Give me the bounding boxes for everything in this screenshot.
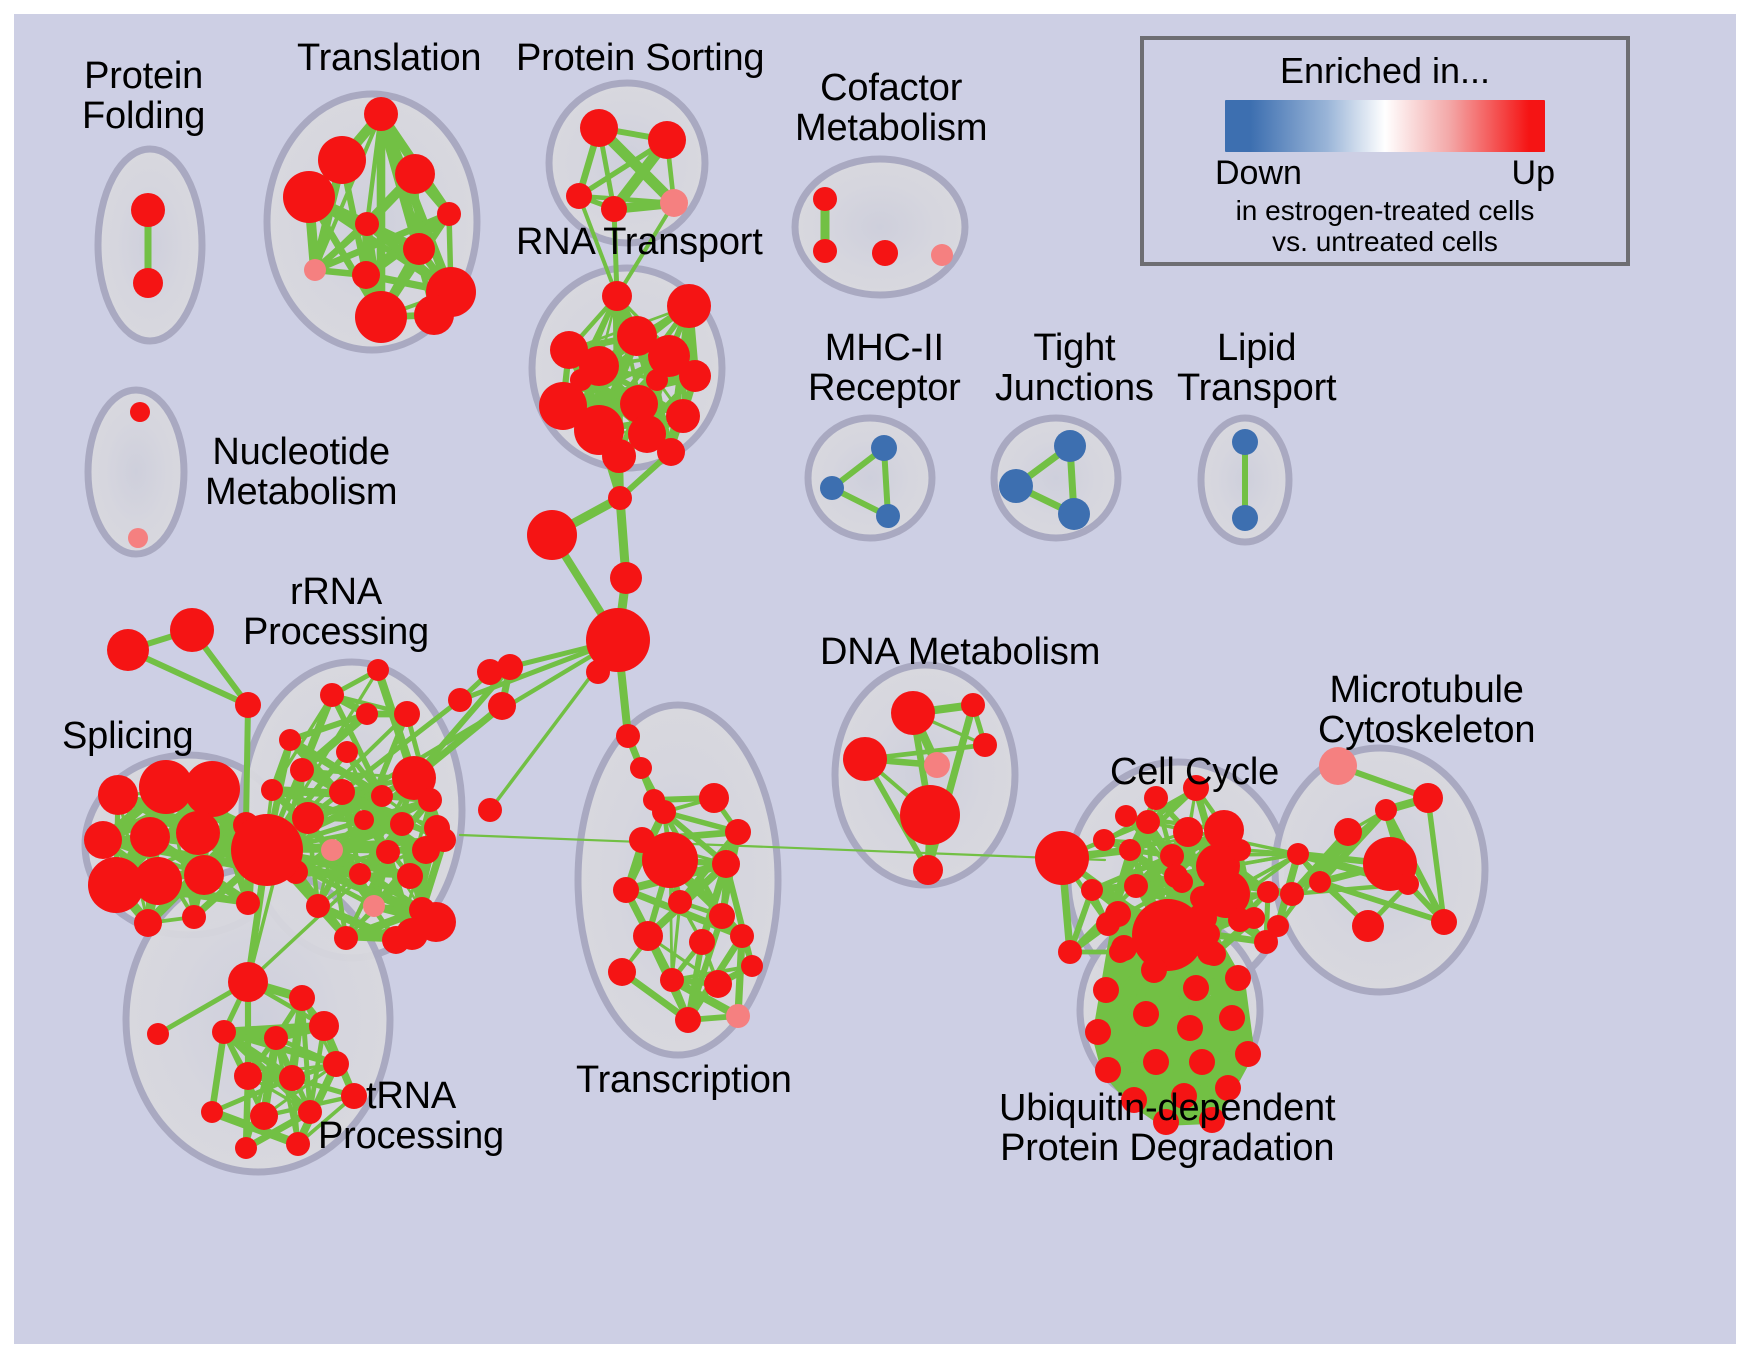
network-node	[390, 812, 414, 836]
cluster-label-mhc-ii-receptor: MHC-II Receptor	[808, 328, 961, 409]
network-node	[131, 193, 165, 227]
network-node	[973, 733, 997, 757]
network-node	[741, 955, 763, 977]
network-node	[264, 1026, 288, 1050]
network-node	[1081, 879, 1103, 901]
network-node	[891, 691, 935, 735]
network-node	[1133, 1001, 1159, 1027]
network-node	[1141, 957, 1167, 983]
network-node	[396, 918, 428, 950]
network-node	[323, 1051, 349, 1077]
network-node	[354, 810, 374, 830]
network-node	[1085, 1019, 1111, 1045]
network-node	[872, 240, 898, 266]
network-node	[613, 877, 639, 903]
cluster-label-lipid-transport: Lipid Transport	[1177, 328, 1336, 409]
network-node	[1124, 874, 1148, 898]
network-node	[1105, 901, 1131, 927]
network-node	[397, 863, 423, 889]
cluster-label-rna-transport: RNA Transport	[516, 222, 763, 262]
network-node	[448, 688, 472, 712]
cluster-label-protein-folding: Protein Folding	[82, 56, 205, 137]
network-node	[610, 562, 642, 594]
network-node	[364, 97, 398, 131]
network-node	[616, 724, 640, 748]
figure-canvas: Enriched in... Down Up in estrogen-treat…	[0, 0, 1750, 1360]
network-node	[1267, 915, 1289, 937]
network-node	[306, 894, 330, 918]
network-node	[98, 775, 138, 815]
network-node	[1235, 1041, 1261, 1067]
network-node	[367, 659, 389, 681]
network-node	[418, 788, 442, 812]
network-node	[1035, 831, 1089, 885]
network-node	[134, 909, 162, 937]
network-node	[289, 985, 315, 1011]
network-node	[182, 905, 206, 929]
network-node	[133, 268, 163, 298]
network-node	[130, 817, 170, 857]
network-node	[1431, 909, 1457, 935]
network-node	[1143, 1049, 1169, 1075]
network-node	[642, 832, 698, 888]
network-node	[586, 660, 610, 684]
network-node	[1189, 1049, 1215, 1075]
network-node	[261, 779, 283, 801]
network-node	[1280, 882, 1304, 906]
network-node	[128, 528, 148, 548]
network-node	[1219, 1005, 1245, 1031]
legend-title: Enriched in...	[1144, 50, 1626, 92]
network-node	[228, 962, 268, 1002]
network-node	[279, 1065, 305, 1091]
cluster-label-cofactor-metabolism: Cofactor Metabolism	[795, 68, 987, 149]
network-node	[1136, 810, 1160, 834]
network-node	[130, 402, 150, 422]
network-node	[726, 1004, 750, 1028]
network-node	[212, 1020, 236, 1044]
network-node	[403, 233, 435, 265]
network-node	[679, 360, 711, 392]
network-node	[1191, 905, 1217, 931]
network-node	[1095, 1057, 1121, 1083]
network-node	[356, 703, 378, 725]
network-node	[689, 929, 715, 955]
legend-endpoints: Down Up	[1215, 154, 1555, 193]
network-node	[376, 840, 400, 864]
network-node	[931, 244, 953, 266]
network-node	[349, 863, 371, 885]
network-node	[1225, 965, 1251, 991]
network-node	[608, 486, 632, 510]
network-node	[675, 1007, 701, 1033]
network-node	[170, 608, 214, 652]
network-node	[633, 921, 663, 951]
network-node	[250, 1102, 278, 1130]
network-node	[1173, 817, 1203, 847]
network-node	[176, 811, 220, 855]
network-node	[652, 800, 676, 824]
network-node	[1257, 881, 1279, 903]
cluster-label-tight-junctions: Tight Junctions	[995, 328, 1154, 409]
network-node	[813, 187, 837, 211]
network-node	[1054, 430, 1086, 462]
network-node	[660, 189, 688, 217]
network-node	[134, 857, 182, 905]
network-node	[437, 202, 461, 226]
network-node	[304, 259, 326, 281]
network-node	[279, 729, 301, 751]
network-node	[1375, 799, 1397, 821]
network-node	[601, 196, 627, 222]
cluster-label-transcription: Transcription	[576, 1060, 792, 1100]
network-node	[432, 828, 456, 852]
network-node	[1093, 977, 1119, 1003]
network-node	[648, 121, 686, 159]
network-node	[1352, 910, 1384, 942]
cluster-label-ubiquitin-protein-degradation: Ubiquitin-dependent Protein Degradation	[999, 1088, 1335, 1169]
legend-up-label: Up	[1512, 154, 1555, 193]
network-node	[371, 785, 393, 807]
network-node	[630, 757, 652, 779]
network-node	[699, 783, 729, 813]
network-node	[1309, 871, 1331, 893]
network-node	[961, 693, 985, 717]
network-node	[1397, 873, 1419, 895]
network-node	[334, 926, 358, 950]
network-node	[712, 850, 740, 878]
network-node	[871, 435, 897, 461]
legend-down-label: Down	[1215, 154, 1302, 193]
network-node	[414, 295, 454, 335]
network-node	[566, 183, 592, 209]
network-node	[234, 1062, 262, 1090]
network-node	[608, 958, 636, 986]
network-node	[147, 1023, 169, 1045]
network-node	[900, 785, 960, 845]
network-node	[1334, 818, 1362, 846]
network-node	[725, 819, 751, 845]
legend-panel: Enriched in... Down Up in estrogen-treat…	[1140, 36, 1630, 266]
network-node	[1287, 843, 1309, 865]
network-node	[283, 171, 335, 223]
network-node	[309, 1011, 339, 1041]
network-node	[336, 741, 358, 763]
network-node	[1119, 839, 1141, 861]
network-node	[1164, 864, 1188, 888]
network-node	[286, 1132, 310, 1156]
network-node	[709, 903, 735, 929]
network-node	[1058, 940, 1082, 964]
network-node	[730, 924, 754, 948]
network-node	[231, 814, 303, 886]
network-node	[1155, 909, 1181, 935]
network-node	[329, 779, 355, 805]
network-node	[1058, 498, 1090, 530]
network-node	[477, 659, 503, 685]
network-node	[1413, 783, 1443, 813]
network-node	[527, 510, 577, 560]
cluster-label-trna-processing: tRNA Processing	[318, 1076, 504, 1157]
network-node	[394, 701, 420, 727]
network-node	[235, 692, 261, 718]
network-node	[363, 895, 385, 917]
network-node	[352, 261, 380, 289]
cluster-label-microtubule-cytoskeleton: Microtubule Cytoskeleton	[1318, 670, 1535, 751]
legend-subtitle: in estrogen-treated cells vs. untreated …	[1144, 195, 1626, 258]
network-node	[704, 970, 732, 998]
network-node	[646, 369, 668, 391]
cluster-label-nucleotide-metabolism: Nucleotide Metabolism	[205, 432, 397, 513]
cluster-label-dna-metabolism: DNA Metabolism	[820, 632, 1100, 672]
network-node	[666, 399, 700, 433]
network-node	[395, 154, 435, 194]
network-node	[84, 821, 122, 859]
network-node	[913, 855, 943, 885]
network-node	[1115, 805, 1137, 827]
network-node	[1232, 505, 1258, 531]
network-node	[668, 890, 692, 914]
network-node	[201, 1101, 223, 1123]
cluster-label-cell-cycle: Cell Cycle	[1110, 752, 1279, 792]
network-node	[355, 212, 379, 236]
cluster-label-translation: Translation	[297, 38, 481, 78]
network-node	[320, 683, 344, 707]
network-node	[924, 752, 950, 778]
network-node	[236, 891, 260, 915]
network-node	[660, 968, 684, 992]
network-node	[107, 629, 149, 671]
network-edge	[246, 705, 248, 825]
cluster-label-protein-sorting: Protein Sorting	[516, 38, 764, 78]
network-node	[1093, 829, 1115, 851]
network-node	[820, 476, 844, 500]
legend-colorbar	[1225, 100, 1545, 152]
network-node	[580, 109, 618, 147]
network-node	[813, 239, 837, 263]
network-node	[184, 761, 240, 817]
network-node	[1197, 939, 1223, 965]
network-node	[1319, 747, 1357, 785]
network-node	[1229, 839, 1251, 861]
cluster-label-splicing: Splicing	[62, 716, 193, 756]
network-node	[184, 855, 224, 895]
network-node	[488, 692, 516, 720]
network-node	[290, 758, 314, 782]
network-node	[602, 439, 636, 473]
network-node	[602, 281, 632, 311]
network-node	[1111, 935, 1137, 961]
network-node	[667, 284, 711, 328]
network-node	[843, 737, 887, 781]
network-node	[1183, 975, 1209, 1001]
network-node	[1243, 907, 1265, 929]
network-node	[1232, 429, 1258, 455]
network-node	[657, 438, 685, 466]
network-node	[1177, 1015, 1203, 1041]
network-node	[1160, 844, 1184, 868]
network-node	[292, 802, 324, 834]
network-node	[999, 469, 1033, 503]
cluster-label-rrna-processing: rRNA Processing	[243, 572, 429, 653]
network-node	[355, 291, 407, 343]
network-node	[478, 798, 502, 822]
network-node	[570, 369, 592, 391]
network-node	[876, 504, 900, 528]
network-node	[321, 839, 343, 861]
network-node	[235, 1137, 257, 1159]
